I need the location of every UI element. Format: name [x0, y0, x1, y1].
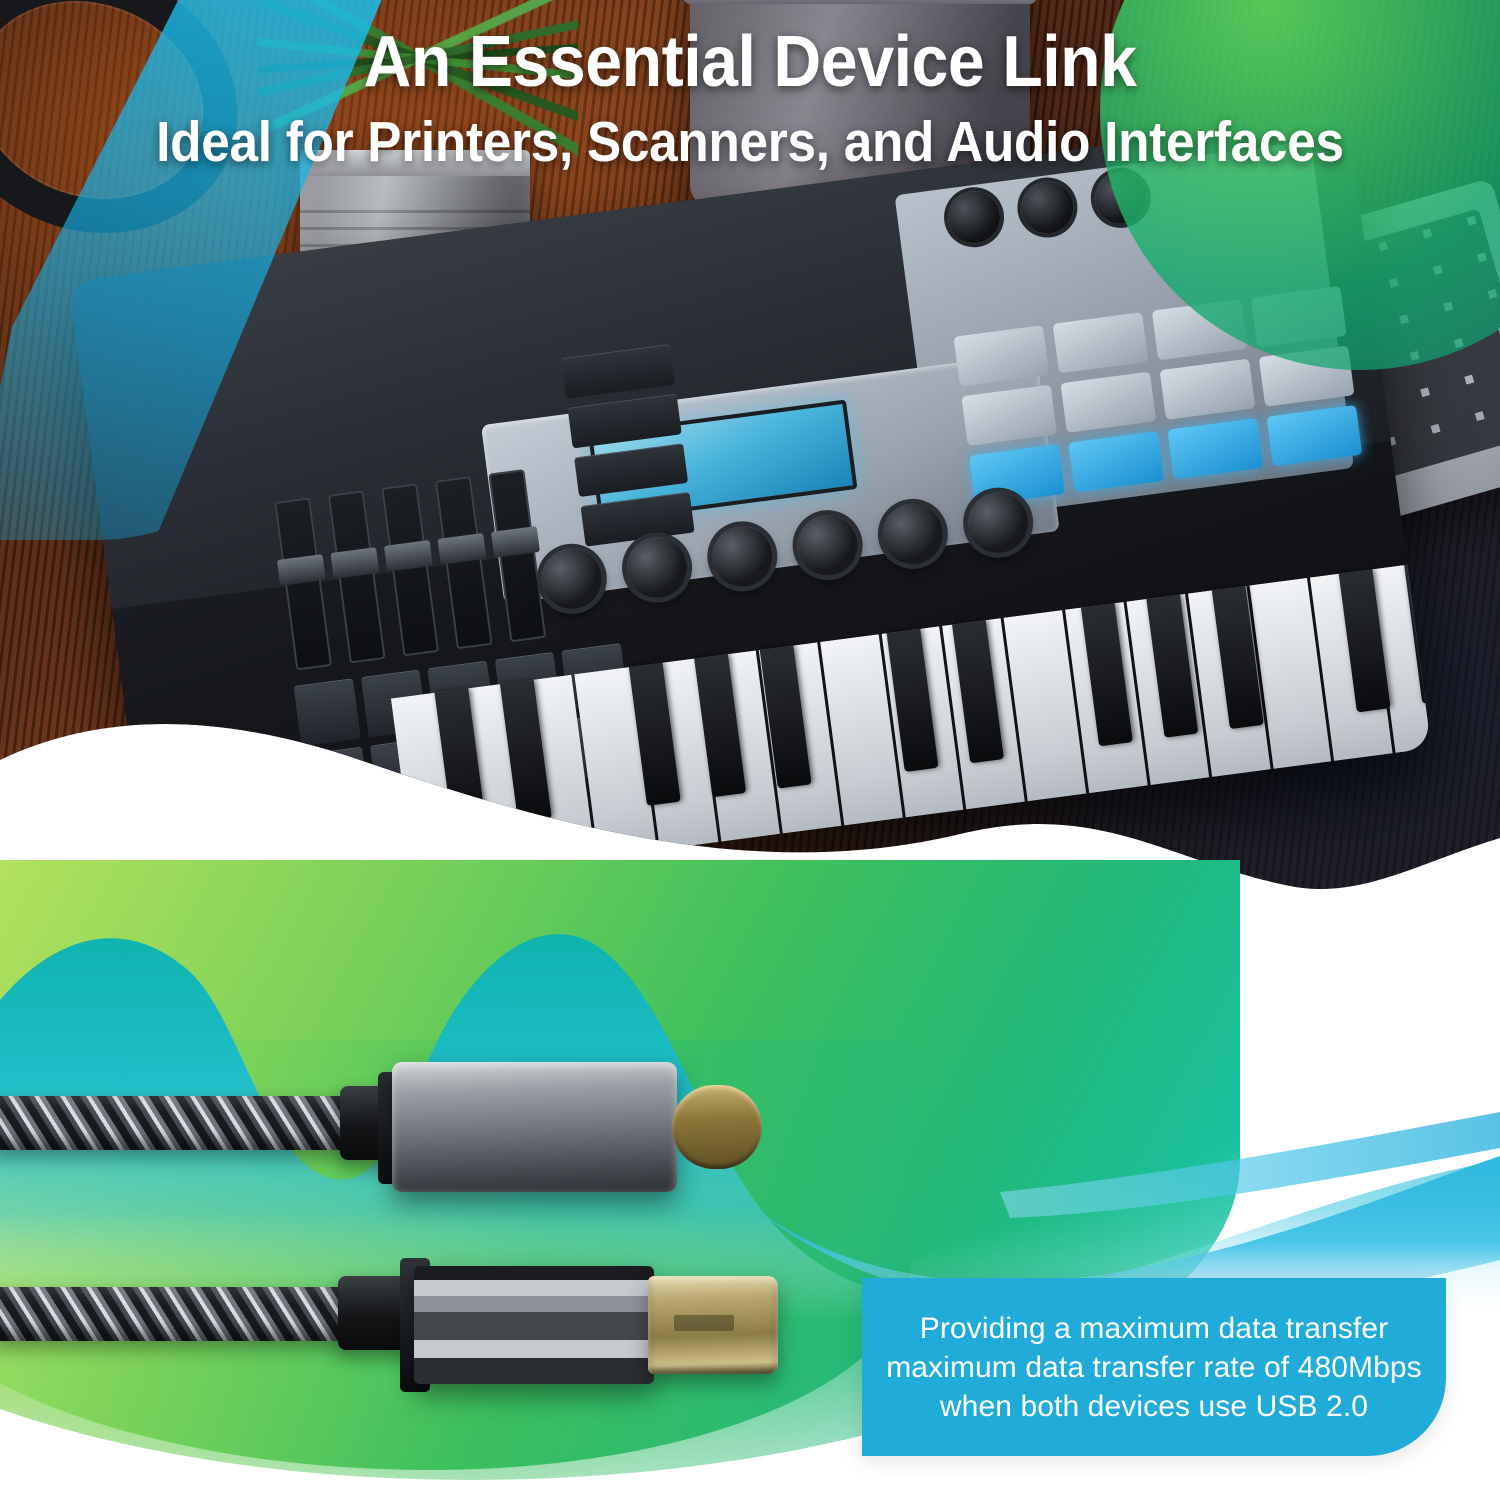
piano-black-key: [434, 688, 486, 831]
piano-black-key: [1081, 603, 1133, 746]
spec-callout-box: Providing a maximum data transfer maximu…: [862, 1278, 1446, 1456]
piano-black-key: [760, 645, 812, 788]
usb-c-contact-tip: [672, 1085, 762, 1169]
hero-photo: [0, 0, 1500, 920]
synth-pad: [1053, 312, 1149, 373]
piano-black-key: [629, 663, 681, 806]
synth-knob: [964, 489, 1031, 556]
wave-svg: [0, 860, 1500, 1320]
teal-wave-ribbon: [0, 860, 1500, 1320]
synth-button: [567, 393, 681, 448]
piano-black-key: [887, 629, 939, 772]
piano-black-key: [694, 654, 746, 797]
usb-b-connector: [414, 1266, 654, 1384]
synth-knob: [1018, 178, 1076, 236]
synth-knob: [538, 545, 605, 612]
synth-slider: [381, 483, 439, 656]
synth-pad: [1160, 359, 1256, 420]
synth-slider: [435, 476, 493, 649]
synth-pad: [1060, 372, 1156, 433]
synth-knob: [794, 511, 861, 578]
spec-callout-text: Providing a maximum data transfer maximu…: [884, 1309, 1424, 1426]
synth-knob: [709, 523, 776, 590]
braided-cable-lower: [0, 1287, 348, 1341]
synth-pad: [961, 385, 1057, 446]
synth-mini-pad: [293, 678, 360, 746]
piano-black-key: [1339, 569, 1391, 712]
synth-knob: [945, 188, 1003, 246]
product-infographic: An Essential Device Link Ideal for Print…: [0, 0, 1500, 1500]
synth-knob: [623, 534, 690, 601]
synth-button: [574, 443, 688, 498]
usb-b-contact-tip: [648, 1276, 778, 1374]
synth-pad: [953, 325, 1049, 386]
piano-black-key: [1212, 586, 1264, 729]
braided-cable-upper: [0, 1096, 350, 1150]
synth-mini-pad: [302, 747, 369, 815]
usb-c-connector: [392, 1062, 677, 1192]
piano-black-key: [500, 680, 552, 823]
piano-black-key: [1146, 595, 1198, 738]
synth-knob: [879, 500, 946, 567]
piano-black-key: [952, 620, 1004, 763]
synth-slider: [328, 490, 386, 663]
synth-slider: [274, 497, 332, 670]
